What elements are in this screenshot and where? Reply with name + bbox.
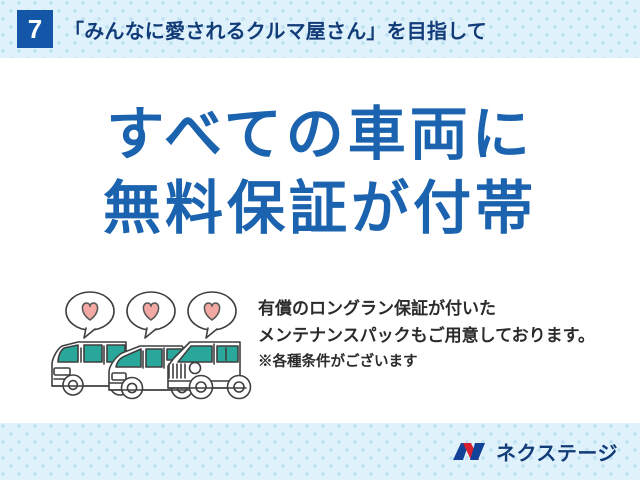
vehicle-illustration-svg <box>40 288 255 403</box>
description-note: ※各種条件がございます <box>258 349 628 375</box>
headline-block: すべての車両に 無料保証が付帯 <box>0 98 640 246</box>
section-number-badge: 7 <box>17 10 53 48</box>
brand-name: ネクステージ <box>496 437 618 466</box>
banner-body: すべての車両に 無料保証が付帯 <box>0 58 640 423</box>
banner-header: 7 「みんなに愛されるクルマ屋さん」を目指して <box>0 0 640 58</box>
header-title: 「みんなに愛されるクルマ屋さん」を目指して <box>64 15 487 44</box>
nextage-n-logo-icon <box>451 439 489 465</box>
speech-bubble-2 <box>127 292 175 338</box>
description-line-1: 有償のロングラン保証が付いた <box>258 296 628 323</box>
description-line-2: メンテナンスパックもご用意しております。 <box>258 323 628 350</box>
headline-line-1: すべての車両に <box>0 98 640 172</box>
vehicle-illustration <box>40 288 255 403</box>
promo-banner: 7 「みんなに愛されるクルマ屋さん」を目指して すべての車両に 無料保証が付帯 <box>0 0 640 480</box>
description-block: 有償のロングラン保証が付いた メンテナンスパックもご用意しております。 ※各種条… <box>258 296 628 375</box>
brand-lockup: ネクステージ <box>451 423 618 480</box>
headline-line-2: 無料保証が付帯 <box>0 172 640 246</box>
speech-bubble-3 <box>188 292 236 338</box>
lower-block: 有償のロングラン保証が付いた メンテナンスパックもご用意しております。 ※各種条… <box>0 288 640 408</box>
header-content: 7 「みんなに愛されるクルマ屋さん」を目指して <box>0 0 640 58</box>
banner-footer: ネクステージ <box>0 423 640 480</box>
speech-bubble-1 <box>66 292 114 338</box>
